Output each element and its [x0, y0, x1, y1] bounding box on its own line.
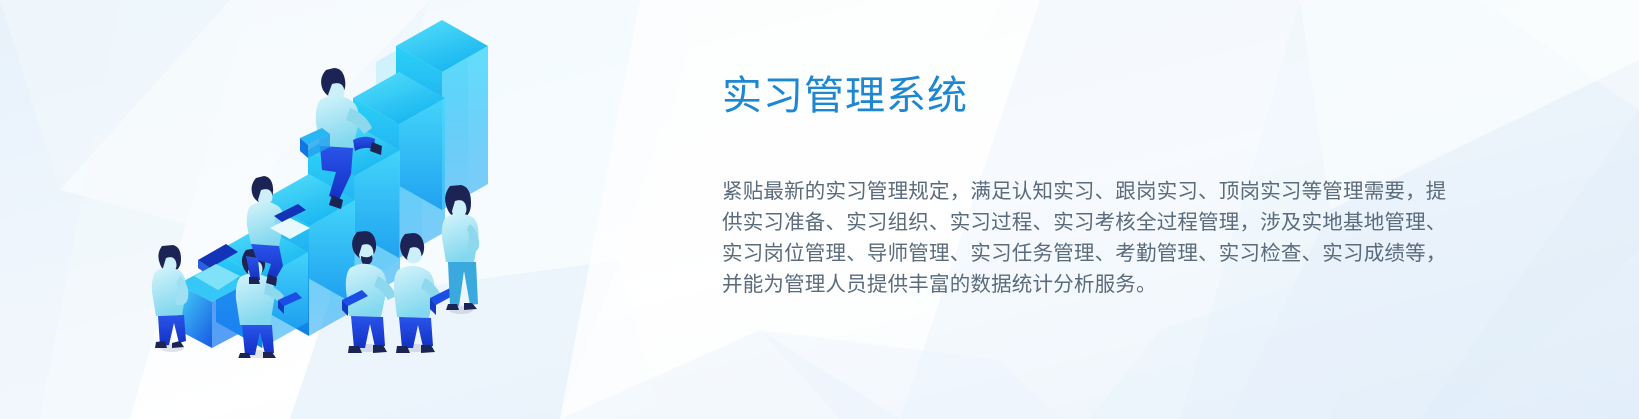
isometric-growth-illustration	[150, 18, 495, 358]
banner-description: 紧贴最新的实习管理规定，满足认知实习、跟岗实习、顶岗实习等管理需要，提 供实习准…	[722, 119, 1402, 300]
person-woman-left	[152, 245, 189, 352]
hero-banner: 实习管理系统 紧贴最新的实习管理规定，满足认知实习、跟岗实习、顶岗实习等管理需要…	[0, 0, 1639, 419]
page-title: 实习管理系统	[722, 74, 1412, 119]
description-line: 供实习准备、实习组织、实习过程、实习考核全过程管理，涉及实地基地管理、	[722, 207, 1402, 238]
illustration-svg	[150, 18, 495, 358]
banner-copy: 实习管理系统 紧贴最新的实习管理规定，满足认知实习、跟岗实习、顶岗实习等管理需要…	[722, 74, 1412, 300]
description-line: 并能为管理人员提供丰富的数据统计分析服务。	[722, 269, 1402, 300]
description-line: 紧贴最新的实习管理规定，满足认知实习、跟岗实习、顶岗实习等管理需要，提	[722, 176, 1402, 207]
description-line: 实习岗位管理、导师管理、实习任务管理、考勤管理、实习检查、实习成绩等，	[722, 238, 1402, 269]
